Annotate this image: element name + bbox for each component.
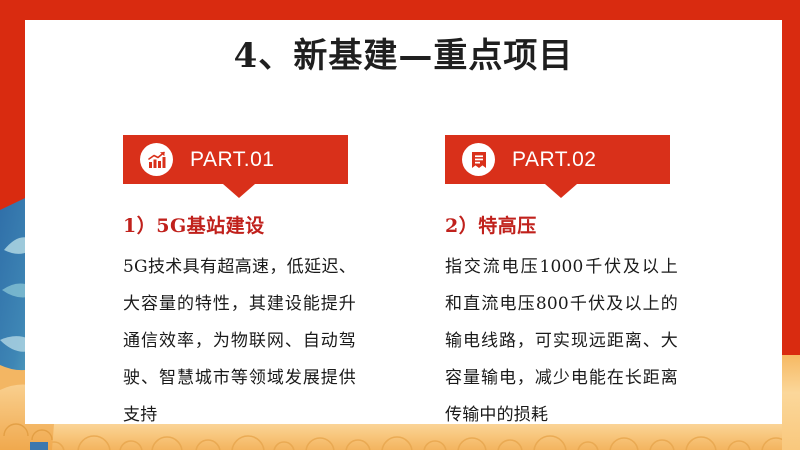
frame-top-border bbox=[0, 0, 800, 20]
column-part-01: PART.01 1）5G基站建设 5G技术具有超高速，低延迟、大容量的特性，其建… bbox=[123, 135, 388, 434]
column-part-02: PART.02 2）特高压 指交流电压1000千伏及以上和直流电压800千伏及以… bbox=[445, 135, 710, 434]
sub-heading-02: 2）特高压 bbox=[445, 211, 710, 238]
part-banner-01[interactable]: PART.01 bbox=[123, 135, 348, 184]
part-banner-label-02: PART.02 bbox=[512, 148, 596, 172]
body-text-01: 5G技术具有超高速，低延迟、大容量的特性，其建设能提升通信效率，为物联网、自动驾… bbox=[123, 249, 356, 434]
slide-canvas: 4、新基建—重点项目 PART.01 1）5G基站建设 5G技术具有超高速 bbox=[0, 0, 800, 450]
page-title: 4、新基建—重点项目 bbox=[25, 28, 782, 77]
sub-heading-01: 1）5G基站建设 bbox=[123, 211, 388, 238]
body-text-02: 指交流电压1000千伏及以上和直流电压800千伏及以上的输电线路，可实现远距离、… bbox=[445, 249, 678, 434]
gold-right-edge-accent bbox=[782, 355, 800, 450]
content-card: 4、新基建—重点项目 PART.01 1）5G基站建设 5G技术具有超高速 bbox=[25, 20, 782, 424]
document-bookmark-icon bbox=[462, 143, 495, 176]
part-banner-02[interactable]: PART.02 bbox=[445, 135, 670, 184]
part-banner-label-01: PART.01 bbox=[190, 148, 274, 172]
bar-chart-growth-icon bbox=[140, 143, 173, 176]
